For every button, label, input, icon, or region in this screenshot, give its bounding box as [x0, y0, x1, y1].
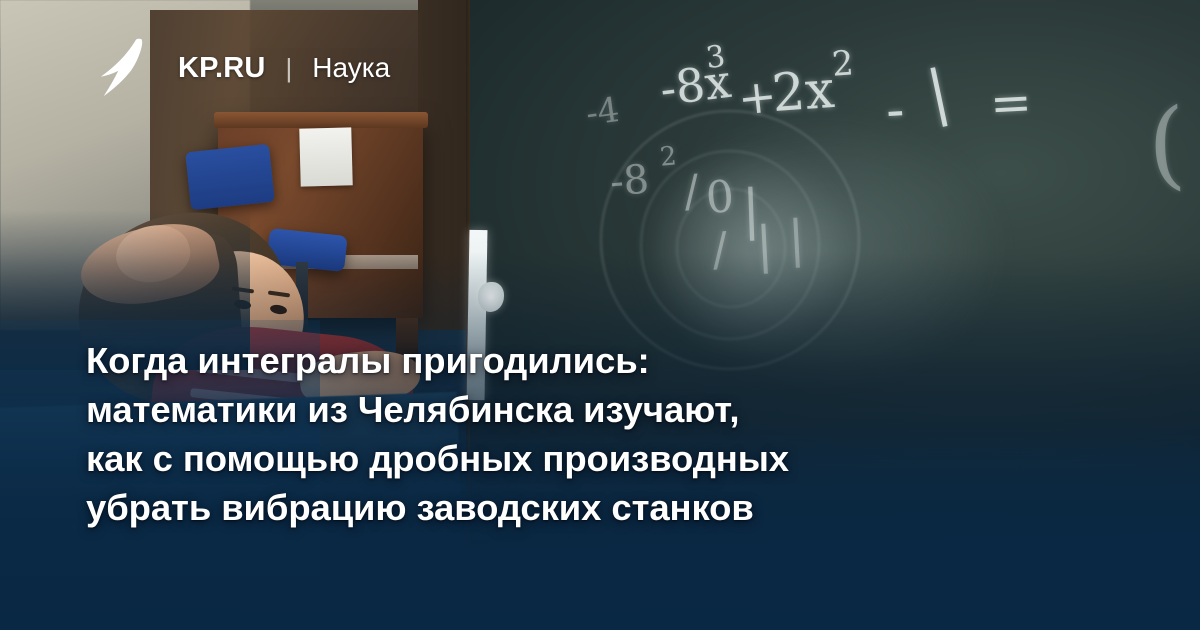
header-divider: | — [286, 53, 293, 84]
headline-line-1: Когда интегралы пригодились: — [86, 336, 1096, 385]
headline-line-4: убрать вибрацию заводских станков — [86, 483, 1096, 532]
section-name[interactable]: Наука — [312, 52, 390, 84]
site-header: KP.RU | Наука — [96, 38, 390, 98]
headline-line-3: как с помощью дробных производных — [86, 434, 1096, 483]
brand-name[interactable]: KP.RU — [178, 52, 266, 85]
article-share-card: -8x 3 + 2x 2 - | = -8 2 / 0 | / | | ( -4 — [0, 0, 1200, 630]
headline-line-2: математики из Челябинска изучают, — [86, 385, 1096, 434]
kp-bird-logo-icon[interactable] — [96, 38, 154, 98]
article-headline: Когда интегралы пригодились: математики … — [86, 336, 1096, 532]
